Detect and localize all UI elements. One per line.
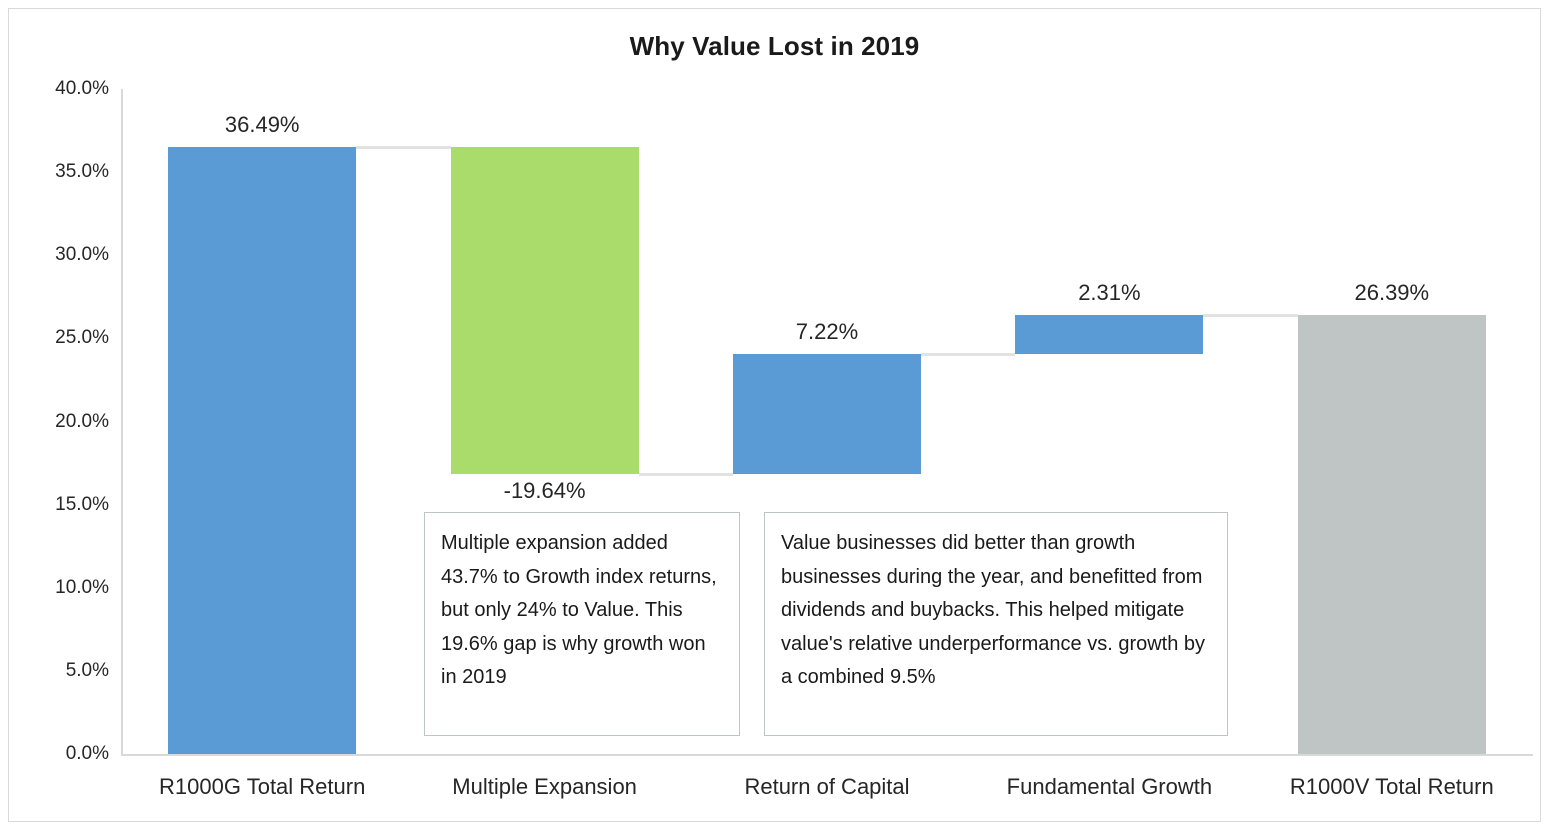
bar-r1000g-total-return[interactable] <box>168 147 356 754</box>
data-label-multiple-expansion: -19.64% <box>504 478 586 504</box>
x-axis-line <box>121 754 1533 756</box>
y-axis-tick-150: 15.0% <box>23 494 109 516</box>
y-axis-tick-00: 0.0% <box>23 743 109 765</box>
x-label-r1000v-total-return: R1000V Total Return <box>1290 774 1494 800</box>
data-label-fundamental-growth: 2.31% <box>1078 280 1140 306</box>
data-label-return-of-capital: 7.22% <box>796 319 858 345</box>
chart-title: Why Value Lost in 2019 <box>9 31 1540 62</box>
connector-3 <box>1203 314 1297 317</box>
y-axis-tick-300: 30.0% <box>23 244 109 266</box>
y-axis-line <box>121 89 123 754</box>
bar-return-of-capital[interactable] <box>733 354 921 474</box>
bar-fundamental-growth[interactable] <box>1015 315 1203 353</box>
x-label-multiple-expansion: Multiple Expansion <box>452 774 637 800</box>
y-axis-tick-400: 40.0% <box>23 78 109 100</box>
bar-r1000v-total-return[interactable] <box>1298 315 1486 754</box>
chart-container: Why Value Lost in 2019 40.0%35.0%30.0%25… <box>8 8 1541 822</box>
y-axis-tick-350: 35.0% <box>23 161 109 183</box>
y-axis-tick-50: 5.0% <box>23 660 109 682</box>
connector-0 <box>356 146 450 149</box>
connector-1 <box>639 473 733 476</box>
y-axis-tick-200: 20.0% <box>23 411 109 433</box>
callout-multiple-expansion: Multiple expansion added 43.7% to Growth… <box>424 512 740 736</box>
y-axis-tick-100: 10.0% <box>23 577 109 599</box>
connector-2 <box>921 353 1015 356</box>
data-label-r1000g-total-return: 36.49% <box>225 112 300 138</box>
x-label-fundamental-growth: Fundamental Growth <box>1007 774 1212 800</box>
bar-multiple-expansion[interactable] <box>451 147 639 474</box>
data-label-r1000v-total-return: 26.39% <box>1354 280 1429 306</box>
x-label-return-of-capital: Return of Capital <box>744 774 909 800</box>
callout-return-of-capital: Value businesses did better than growth … <box>764 512 1228 736</box>
y-axis-tick-250: 25.0% <box>23 327 109 349</box>
x-label-r1000g-total-return: R1000G Total Return <box>159 774 365 800</box>
